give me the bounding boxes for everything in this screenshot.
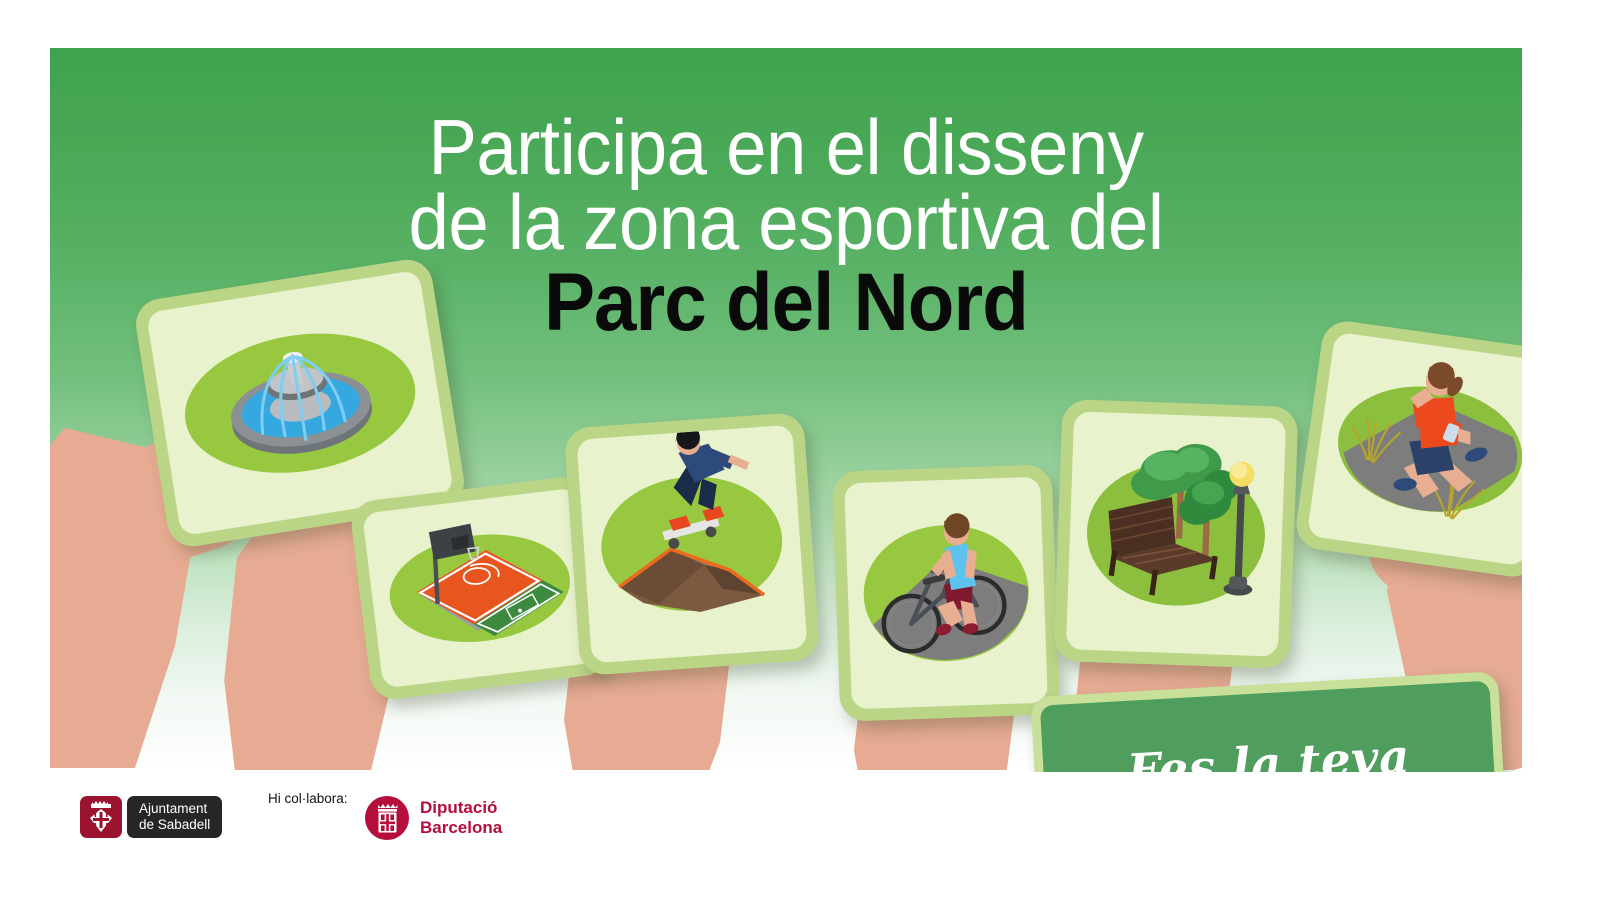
- sabadell-crest-icon: [80, 796, 122, 838]
- diputacio-line-1: Diputació: [420, 798, 497, 817]
- card-park-bench[interactable]: [1054, 399, 1299, 669]
- poster-canvas: Participa en el disseny de la zona espor…: [50, 48, 1522, 770]
- skateboarder-illustration: [576, 425, 807, 664]
- diputacio-crest-icon: [365, 796, 409, 840]
- card-bike-path[interactable]: [832, 464, 1061, 722]
- card-runner[interactable]: [1293, 318, 1522, 580]
- cyclist-illustration: [844, 477, 1048, 710]
- diputacio-line-2: Barcelona: [420, 818, 502, 837]
- diputacio-name: Diputació Barcelona: [420, 798, 502, 838]
- logo-diputacio-barcelona[interactable]: Diputació Barcelona: [365, 794, 502, 842]
- collaborate-label: Hi col·labora:: [268, 791, 348, 806]
- card-skatepark[interactable]: [564, 412, 821, 676]
- banner-stage: Participa en el disseny de la zona espor…: [0, 0, 1600, 900]
- sports-court-illustration: [362, 487, 598, 688]
- headline-line-2: de la zona esportiva del: [102, 185, 1471, 260]
- sabadell-name-box: Ajuntament de Sabadell: [127, 796, 222, 838]
- headline-line-1: Participa en el disseny: [102, 110, 1471, 185]
- sabadell-line-2: de Sabadell: [139, 817, 210, 833]
- runner-illustration: [1307, 332, 1522, 567]
- footer-bar: Ajuntament de Sabadell: [0, 772, 1600, 900]
- park-bench-illustration: [1066, 411, 1286, 656]
- logo-ajuntament-sabadell[interactable]: Ajuntament de Sabadell: [80, 796, 222, 838]
- sabadell-line-1: Ajuntament: [139, 801, 210, 817]
